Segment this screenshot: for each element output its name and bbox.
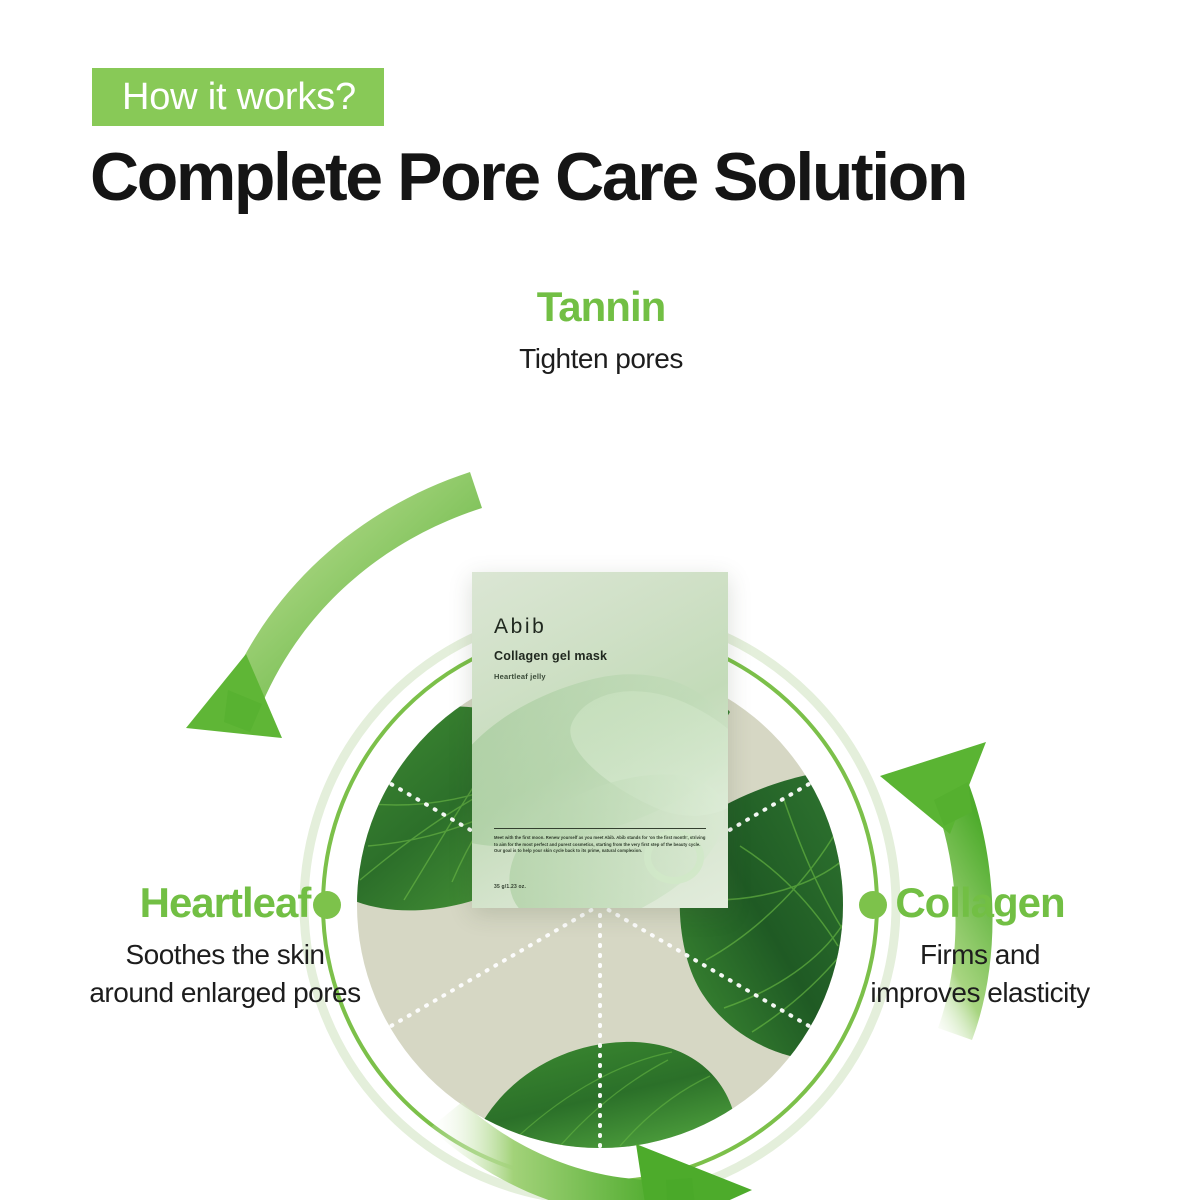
node-title-collagen: Collagen <box>780 880 1180 926</box>
page-title: Complete Pore Care Solution <box>90 142 966 213</box>
package-product-name: Collagen gel mask <box>494 650 706 663</box>
node-label-collagen: Collagen Firms and improves elasticity <box>780 880 1180 1012</box>
package-blurb: Meet with the first moon. Renew yourself… <box>494 835 706 855</box>
package-net-weight: 35 g/1.23 oz. <box>494 884 526 890</box>
product-package: Abib Collagen gel mask Heartleaf jelly M… <box>472 572 728 908</box>
node-title-tannin: Tannin <box>406 284 796 330</box>
node-desc-tannin: Tighten pores <box>406 340 796 378</box>
cycle-diagram: Tannin Tighten pores Heartleaf Soothes t… <box>0 260 1200 1200</box>
package-divider-rule <box>494 828 706 829</box>
cycle-arrow-top-left <box>186 472 482 738</box>
node-desc-heartleaf: Soothes the skin around enlarged pores <box>20 936 430 1012</box>
eyebrow-label: How it works? <box>122 78 356 116</box>
eyebrow-badge: How it works? <box>92 68 384 126</box>
package-variant: Heartleaf jelly <box>494 673 706 681</box>
node-desc-collagen: Firms and improves elasticity <box>780 936 1180 1012</box>
node-label-tannin: Tannin Tighten pores <box>406 284 796 378</box>
node-title-heartleaf: Heartleaf <box>20 880 430 926</box>
node-label-heartleaf: Heartleaf Soothes the skin around enlarg… <box>20 880 430 1012</box>
package-brand: Abib <box>494 616 706 637</box>
